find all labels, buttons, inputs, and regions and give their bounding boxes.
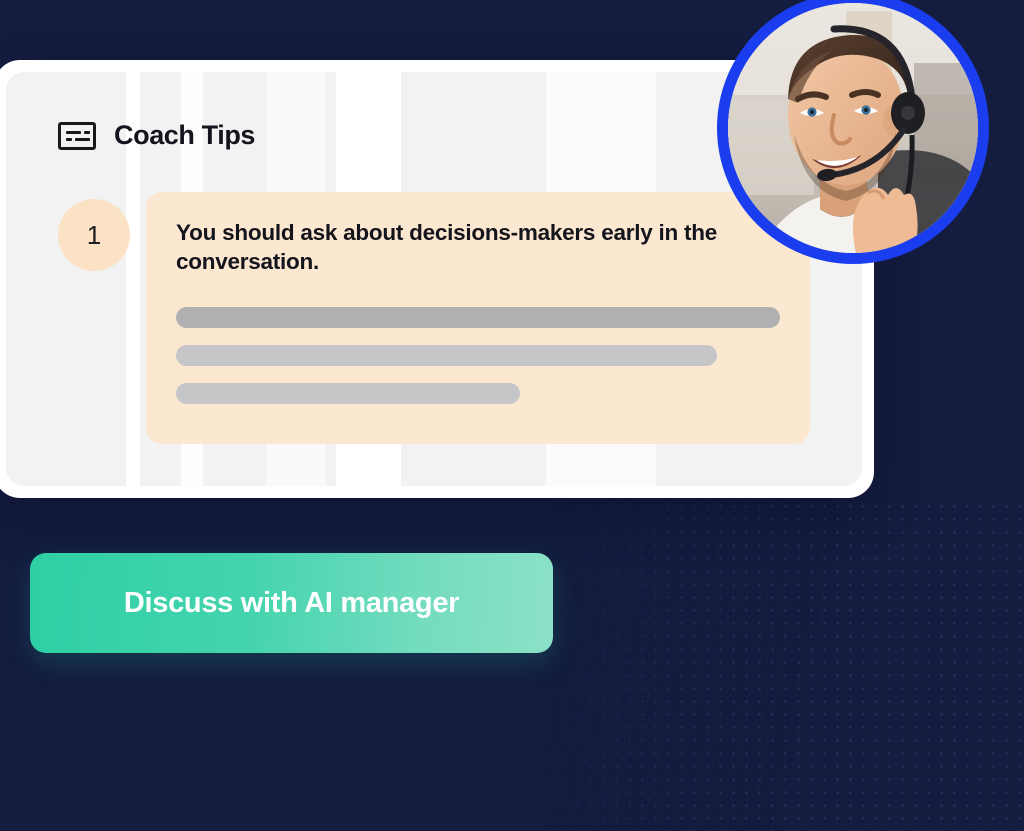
tip-text: You should ask about decisions-makers ea… — [176, 218, 721, 277]
tip-skeleton-placeholder — [176, 307, 780, 404]
avatar-photo — [728, 3, 978, 253]
skeleton-bar — [176, 307, 780, 328]
decorative-dot-pattern — [545, 500, 1024, 831]
page-title: Coach Tips — [114, 120, 255, 151]
captions-icon — [58, 122, 96, 150]
tip-list-item: 1 You should ask about decisions-makers … — [58, 192, 854, 444]
skeleton-bar — [176, 345, 717, 366]
skeleton-bar — [176, 383, 520, 404]
avatar — [717, 0, 989, 264]
tip-content-card: You should ask about decisions-makers ea… — [146, 192, 810, 444]
tip-number-badge: 1 — [58, 199, 130, 271]
card-header: Coach Tips — [58, 120, 255, 151]
discuss-with-ai-manager-button[interactable]: Discuss with AI manager — [30, 553, 553, 653]
agent-portrait-illustration — [728, 3, 978, 253]
